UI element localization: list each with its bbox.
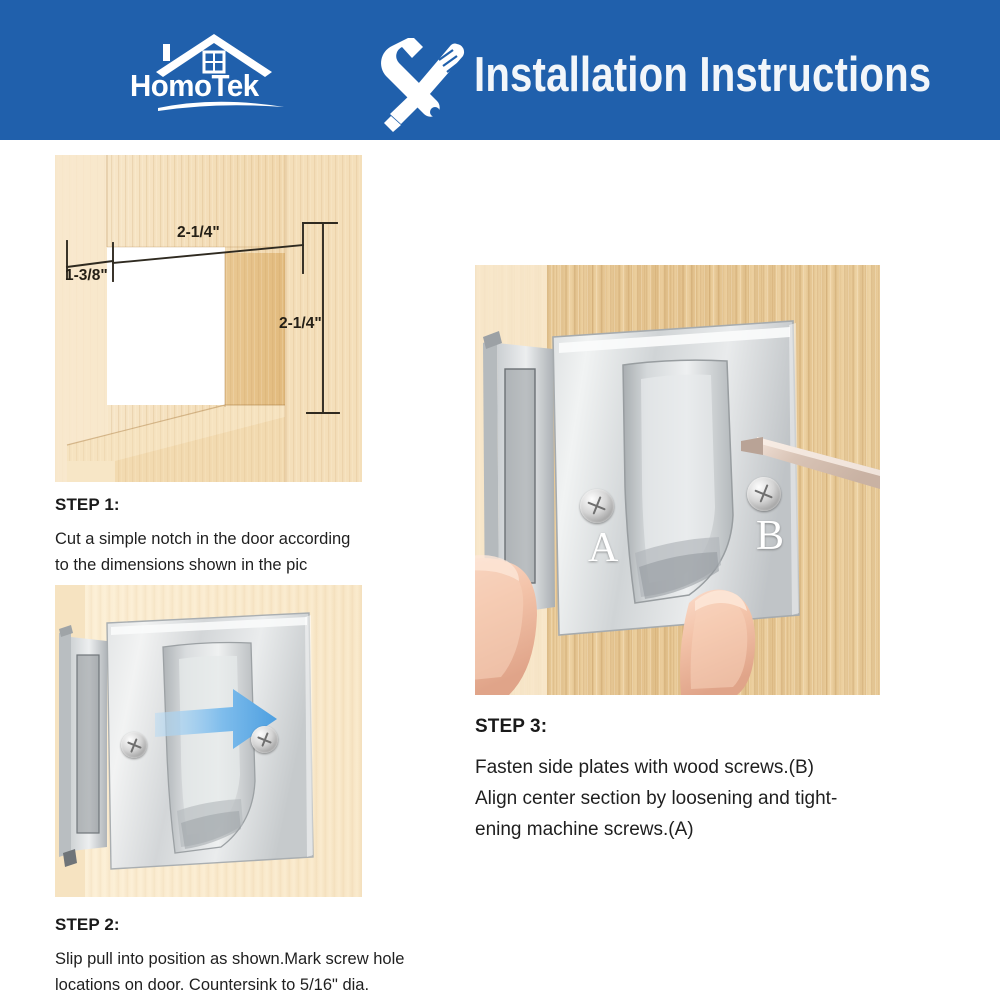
brand-name: HomoTek <box>130 68 301 104</box>
step-2-text: STEP 2: Slip pull into position as shown… <box>55 915 455 998</box>
step-2-body: Slip pull into position as shown.Mark sc… <box>55 946 455 998</box>
step-3-heading: STEP 3: <box>475 716 945 738</box>
screw-b <box>747 477 781 511</box>
pocket-door-pull-slip-in-photo <box>55 585 362 897</box>
callout-label-a: A <box>588 527 618 569</box>
finger-right <box>680 590 755 695</box>
pull-illustration <box>475 265 880 695</box>
step-1-heading: STEP 1: <box>55 495 395 515</box>
screw-a <box>580 489 614 523</box>
step-3-text: STEP 3: Fasten side plates with wood scr… <box>475 716 945 845</box>
screw-left <box>121 732 147 758</box>
callout-label-b: B <box>756 515 784 557</box>
door-notch-dimension-diagram: 1-3/8" 2-1/4" 2-1/4" <box>55 155 362 482</box>
pull-illustration <box>55 585 362 897</box>
screw-right <box>251 726 278 753</box>
dimension-label-width: 2-1/4" <box>177 224 220 242</box>
step-3-body: Fasten side plates with wood screws.(B) … <box>475 752 945 845</box>
pocket-door-pull-fasten-photo: A B <box>475 265 880 695</box>
step-1-text: STEP 1: Cut a simple notch in the door a… <box>55 495 395 578</box>
step-2-heading: STEP 2: <box>55 915 455 935</box>
page-header: HomoTek Installation Instructions <box>0 0 1000 140</box>
brand-logo: HomoTek <box>118 28 318 118</box>
wrench-screwdriver-icon <box>365 38 470 133</box>
dimension-label-height: 2-1/4" <box>279 315 322 333</box>
page-title: Installation Instructions <box>474 44 859 106</box>
step-1-body: Cut a simple notch in the door according… <box>55 526 395 578</box>
dimension-label-depth: 1-3/8" <box>65 267 108 285</box>
